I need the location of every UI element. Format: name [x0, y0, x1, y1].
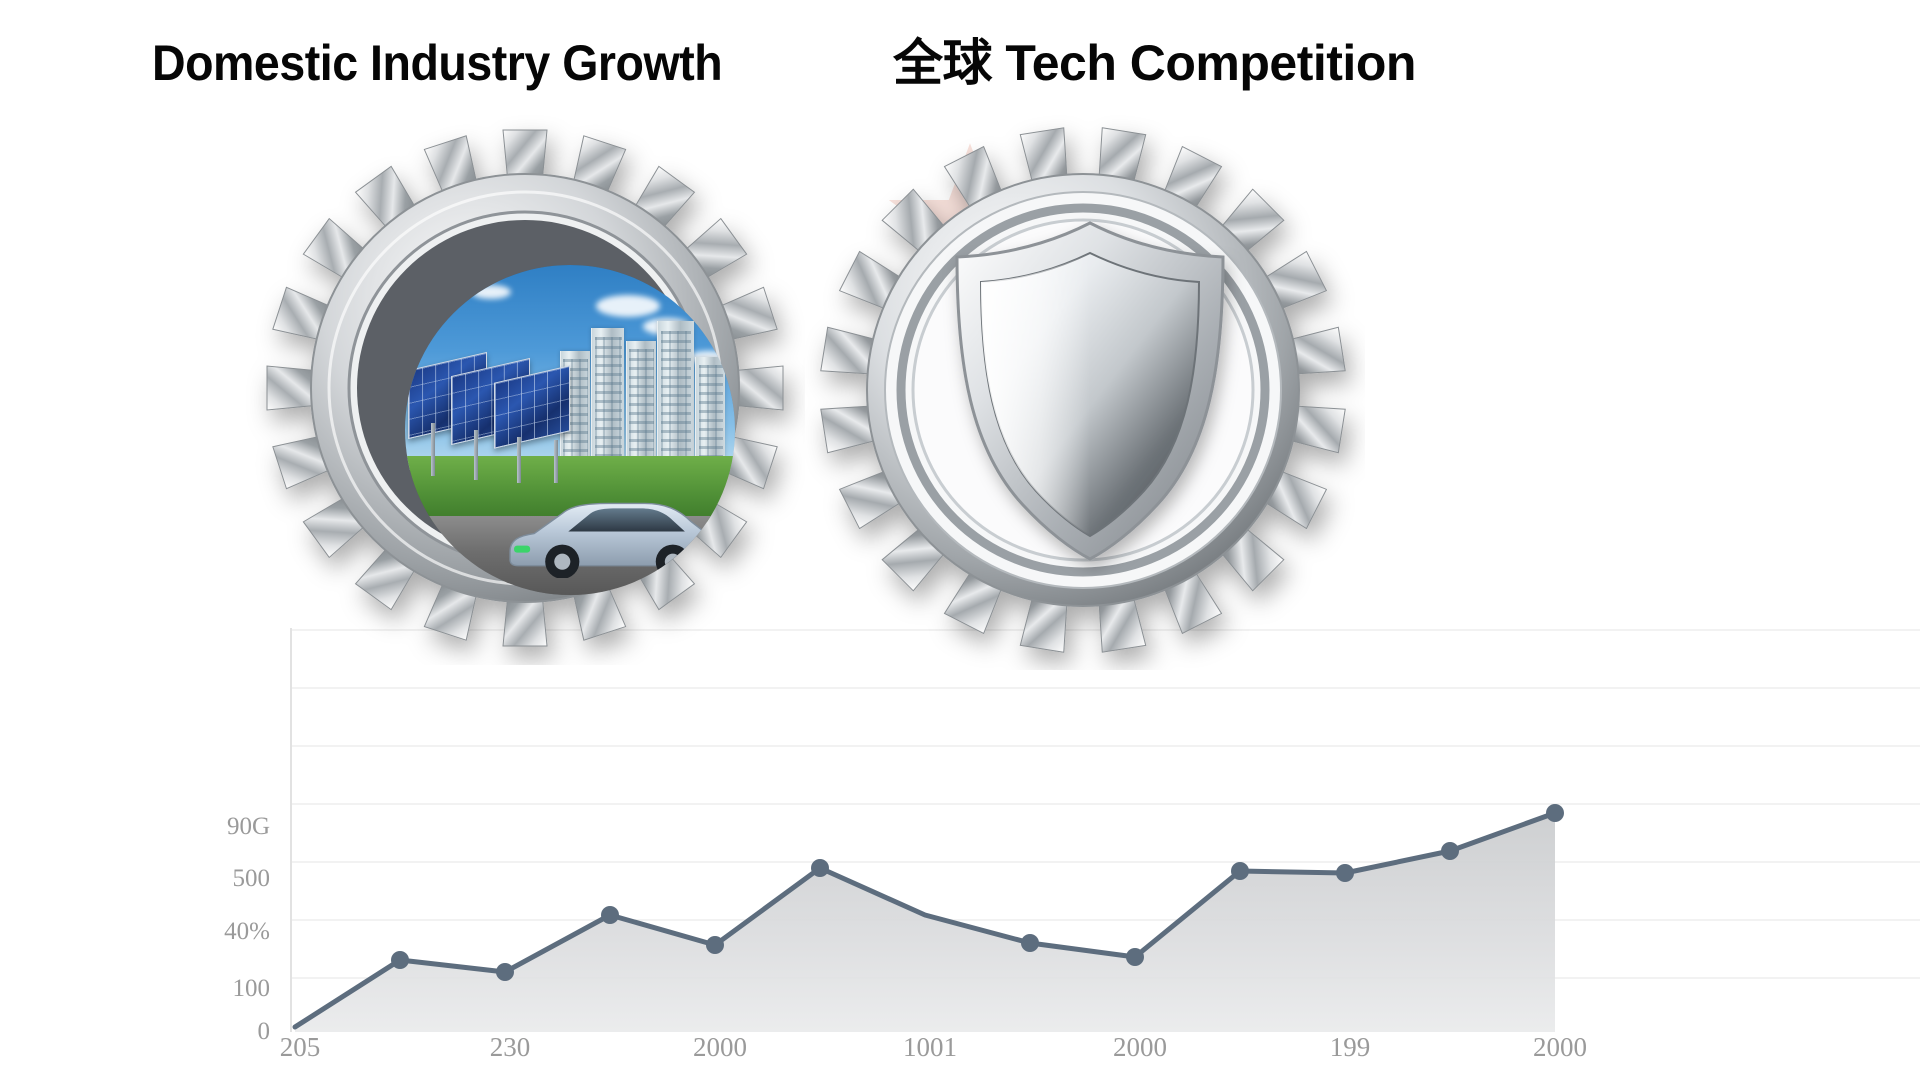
data-point — [1546, 804, 1564, 822]
panel-leg — [474, 430, 478, 480]
y-axis-tick-2: 40% — [190, 918, 270, 946]
chart-svg — [0, 600, 1920, 1080]
x-axis-tick-3: 1001 — [870, 1032, 990, 1063]
x-axis-tick-4: 2000 — [1080, 1032, 1200, 1063]
panel-leg — [431, 423, 435, 476]
electric-car-icon — [504, 489, 725, 578]
page-title-left: Domestic Industry Growth — [152, 38, 722, 88]
x-axis-tick-6: 2000 — [1500, 1032, 1620, 1063]
car-wheel — [656, 545, 690, 578]
x-axis-tick-0: 205 — [240, 1032, 360, 1063]
y-axis-tick-1: 100 — [190, 975, 270, 1003]
area-chart: 90G 500 40% 100 0 205 230 2000 1001 2000… — [0, 600, 1920, 1080]
page-title-right: 全球 Tech Competition — [893, 38, 1416, 88]
chart-gridlines — [290, 630, 1920, 978]
x-axis-tick-5: 199 — [1290, 1032, 1410, 1063]
data-point — [1336, 864, 1354, 882]
photo-solar-city-ev — [405, 265, 735, 595]
infographic-canvas: Domestic Industry Growth 全球 Tech Competi… — [0, 0, 1920, 1080]
y-axis-tick-4: 90G — [190, 813, 270, 841]
data-point — [1231, 862, 1249, 880]
cloud-icon — [471, 285, 511, 299]
data-point — [811, 859, 829, 877]
data-point — [391, 951, 409, 969]
panel-leg — [517, 437, 521, 483]
data-point — [1021, 934, 1039, 952]
x-axis-tick-1: 230 — [450, 1032, 570, 1063]
x-axis-tick-2: 2000 — [660, 1032, 780, 1063]
data-point — [601, 906, 619, 924]
cloud-icon — [596, 295, 660, 317]
y-axis-tick-3: 500 — [190, 865, 270, 893]
data-point — [1441, 842, 1459, 860]
ev-indicator-light — [514, 546, 530, 553]
shield-icon — [905, 205, 1275, 575]
panel-leg — [554, 440, 558, 483]
data-point — [706, 936, 724, 954]
chart-area-fill — [295, 813, 1555, 1032]
data-point — [496, 963, 514, 981]
car-wheel — [545, 545, 579, 578]
data-point — [1126, 948, 1144, 966]
